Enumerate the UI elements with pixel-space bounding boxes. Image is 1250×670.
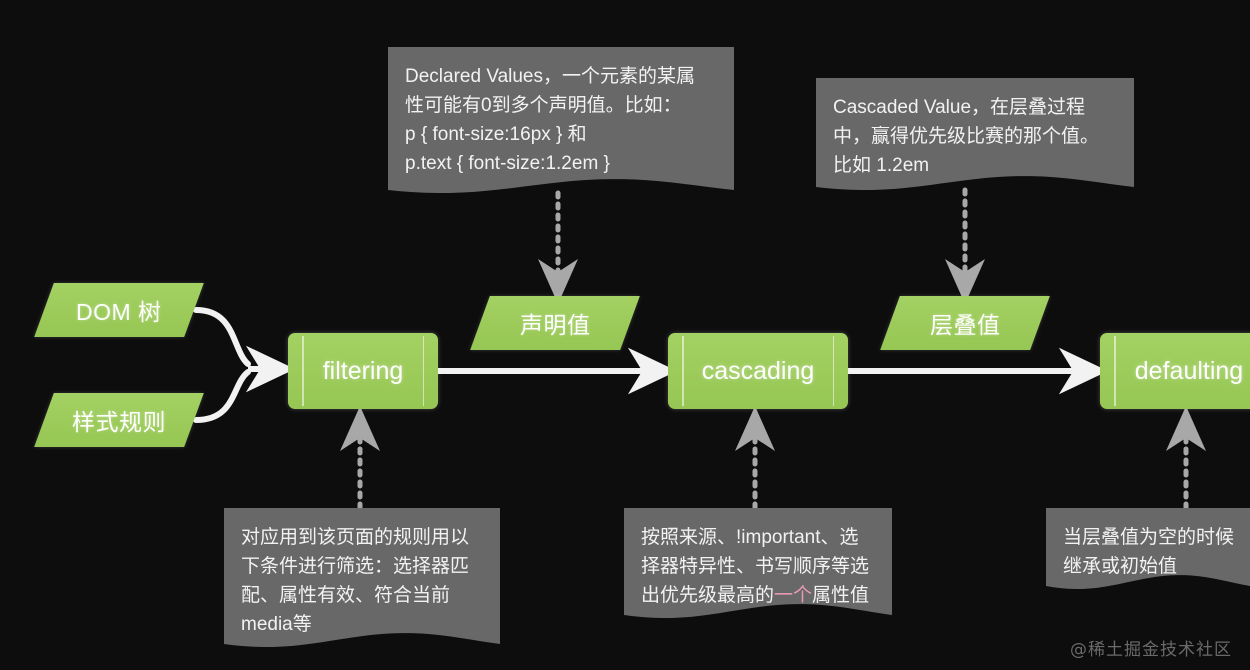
- process-left-bar: [682, 336, 684, 406]
- note-text-run: 择器特异性、书写顺序等选: [641, 556, 869, 577]
- node-style-rules[interactable]: 样式规则: [34, 393, 204, 447]
- process-defaulting-label: defaulting: [1135, 357, 1243, 386]
- note-line: 下条件进行筛选：选择器匹: [241, 553, 483, 582]
- note-line: media等: [241, 611, 483, 640]
- node-declared-values[interactable]: 声明值: [470, 296, 640, 350]
- process-right-bar: [833, 336, 835, 406]
- note-cascading-text: 按照来源、!important、选择器特异性、书写顺序等选出优先级最高的一个属性…: [624, 508, 892, 621]
- input-connectors: [196, 310, 283, 420]
- node-declared-values-label: 声明值: [520, 306, 591, 340]
- note-line: 当层叠值为空的时候: [1063, 524, 1233, 553]
- node-style-rules-label: 样式规则: [72, 403, 166, 437]
- note-line: 继承或初始值: [1063, 553, 1233, 582]
- note-text-run: 属性值: [812, 585, 869, 606]
- process-filtering[interactable]: filtering: [288, 333, 438, 409]
- note-line: Cascaded Value，在层叠过程: [833, 94, 1117, 123]
- note-filtering-text: 对应用到该页面的规则用以 下条件进行筛选：选择器匹 配、属性有效、符合当前 me…: [224, 508, 500, 650]
- node-dom-tree-label: DOM 树: [76, 293, 162, 327]
- note-defaulting-text: 当层叠值为空的时候 继承或初始值: [1046, 508, 1250, 592]
- note-defaulting: 当层叠值为空的时候 继承或初始值: [1046, 508, 1250, 590]
- note-line: Declared Values，一个元素的某属: [405, 63, 717, 92]
- diagram-canvas: DOM 树 样式规则 声明值 层叠值 filtering cascading d…: [0, 0, 1250, 670]
- note-line: 配、属性有效、符合当前: [241, 582, 483, 611]
- note-text-run: 出优先级最高的: [641, 585, 774, 606]
- note-line: 择器特异性、书写顺序等选: [641, 553, 875, 582]
- note-cascading: 按照来源、!important、选择器特异性、书写顺序等选出优先级最高的一个属性…: [624, 508, 892, 619]
- note-highlight: 一个: [774, 585, 812, 606]
- node-cascaded-value[interactable]: 层叠值: [880, 296, 1050, 350]
- note-line: 中，赢得优先级比赛的那个值。: [833, 123, 1117, 152]
- note-declared-values-text: Declared Values，一个元素的某属 性可能有0到多个声明值。比如： …: [388, 47, 734, 189]
- note-cascaded-value: Cascaded Value，在层叠过程 中，赢得优先级比赛的那个值。 比如 1…: [816, 78, 1134, 191]
- watermark: @稀土掘金技术社区: [1070, 635, 1232, 660]
- process-left-bar: [1114, 336, 1116, 406]
- note-line: 性可能有0到多个声明值。比如：: [405, 92, 717, 121]
- process-defaulting[interactable]: defaulting: [1100, 333, 1250, 409]
- note-declared-values: Declared Values，一个元素的某属 性可能有0到多个声明值。比如： …: [388, 47, 734, 194]
- note-line: 对应用到该页面的规则用以: [241, 524, 483, 553]
- note-text-run: 按照来源、!important、选: [641, 527, 858, 548]
- note-line: p.text { font-size:1.2em }: [405, 150, 717, 179]
- process-cascading[interactable]: cascading: [668, 333, 848, 409]
- note-filtering: 对应用到该页面的规则用以 下条件进行筛选：选择器匹 配、属性有效、符合当前 me…: [224, 508, 500, 648]
- note-line: p { font-size:16px } 和: [405, 121, 717, 150]
- process-cascading-label: cascading: [702, 357, 815, 386]
- node-cascaded-value-label: 层叠值: [930, 306, 1001, 340]
- node-dom-tree[interactable]: DOM 树: [34, 283, 204, 337]
- note-line: 按照来源、!important、选: [641, 524, 875, 553]
- note-line: 比如 1.2em: [833, 152, 1117, 181]
- note-line: 出优先级最高的一个属性值: [641, 582, 875, 611]
- process-right-bar: [423, 336, 425, 406]
- process-filtering-label: filtering: [323, 357, 404, 386]
- note-cascaded-value-text: Cascaded Value，在层叠过程 中，赢得优先级比赛的那个值。 比如 1…: [816, 78, 1134, 191]
- process-left-bar: [302, 336, 304, 406]
